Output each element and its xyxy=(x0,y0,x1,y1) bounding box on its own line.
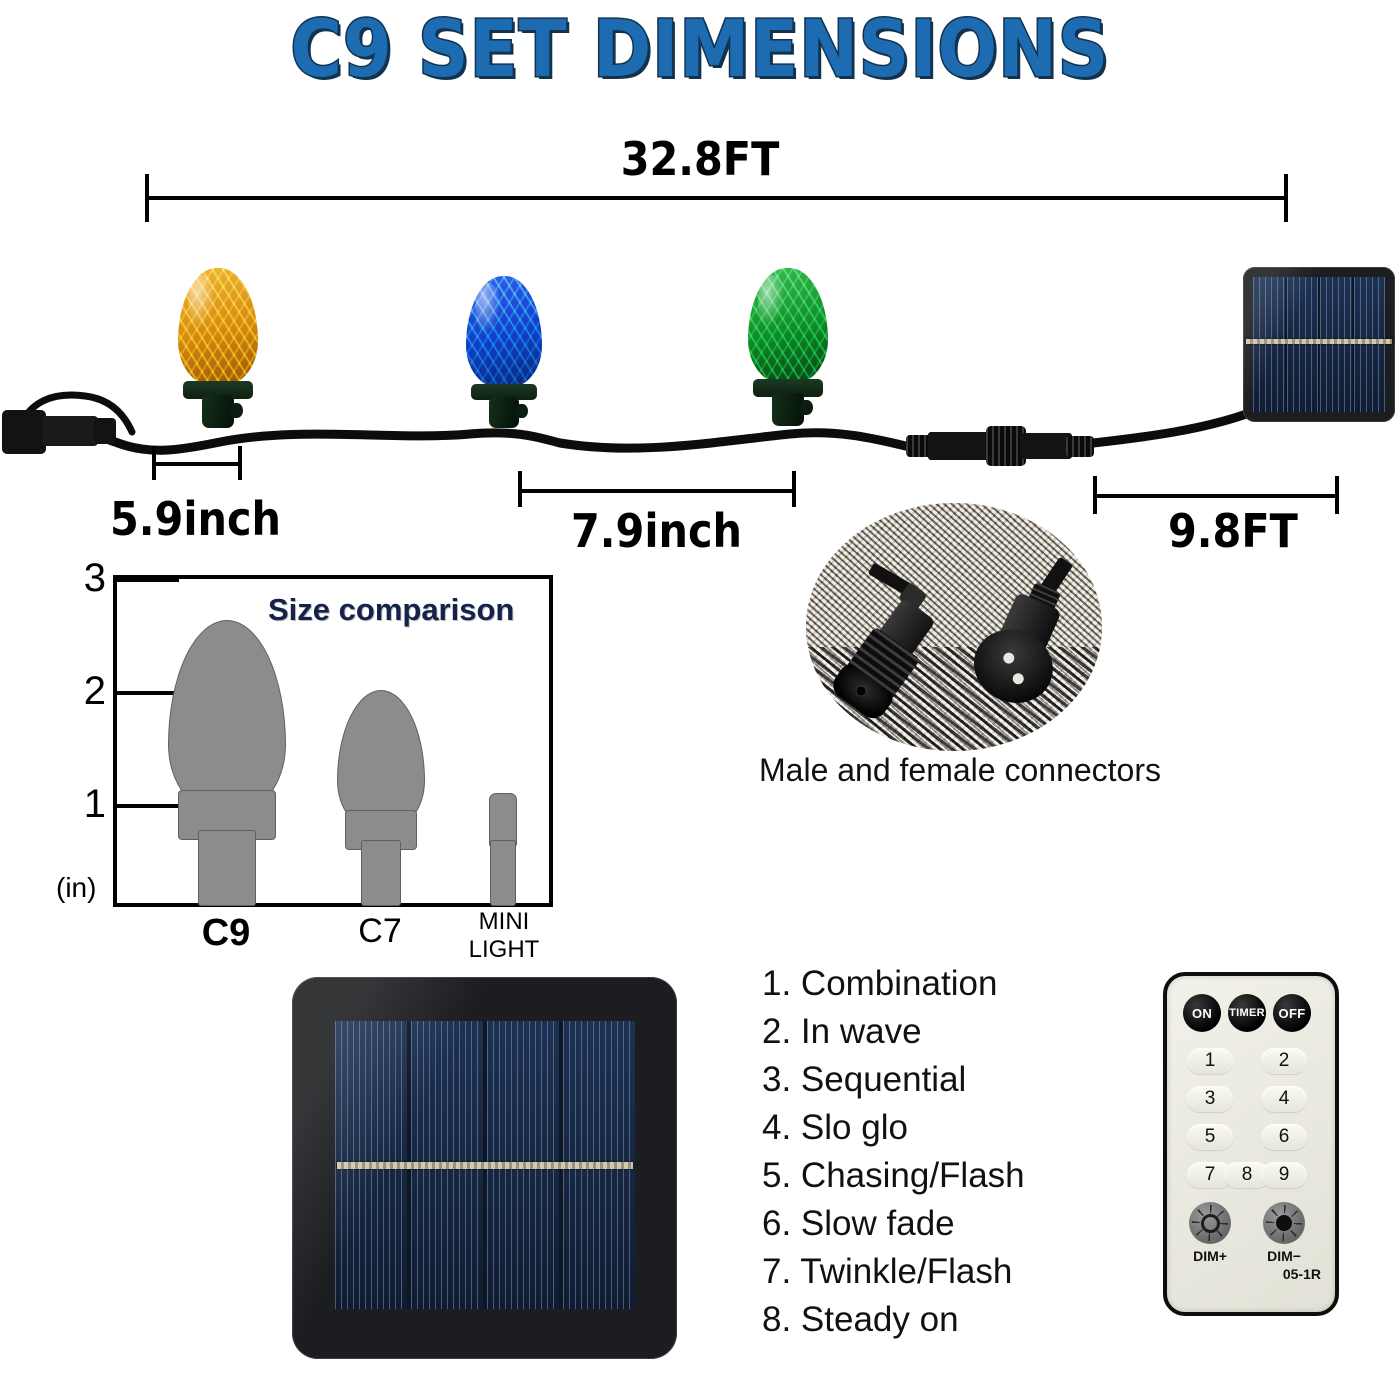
category-label-c7: C7 xyxy=(330,912,430,951)
mode-item-5: 5. Chasing/Flash xyxy=(762,1152,1092,1200)
dimension-line xyxy=(152,462,242,466)
connector-photo-caption: Male and female connectors xyxy=(730,752,1190,789)
green-bulb xyxy=(748,268,828,384)
amber-bulb xyxy=(178,268,258,386)
remote-off-button[interactable]: OFF xyxy=(1273,994,1311,1032)
y-tick-label-2: 2 xyxy=(62,669,106,714)
category-label-c9: C9 xyxy=(166,912,286,955)
plug-ribbed-grip xyxy=(2,410,46,454)
dial-tick-marks xyxy=(1192,1205,1228,1241)
coupler-strain-right xyxy=(1066,436,1094,457)
bulb-glass xyxy=(466,276,542,388)
solar-panel-large xyxy=(292,977,677,1359)
mini-base-shape xyxy=(490,840,516,906)
remote-button-2[interactable]: 2 xyxy=(1261,1048,1307,1074)
panel-sheen xyxy=(1243,267,1395,422)
chart-title: Size comparison xyxy=(268,592,514,628)
bulb-to-end-label: 5.9inch xyxy=(110,492,281,546)
bulb-socket xyxy=(489,397,519,428)
remote-timer-button[interactable]: TIMER xyxy=(1228,994,1266,1032)
bulb-spacing-label: 7.9inch xyxy=(571,504,742,558)
y-tick-1 xyxy=(117,804,179,808)
y-tick-label-1: 1 xyxy=(62,782,106,827)
bulb-glass xyxy=(178,268,258,386)
mini-glass-shape xyxy=(489,793,517,847)
y-tick-label-3: 3 xyxy=(62,556,106,601)
solar-panel-small xyxy=(1243,267,1395,422)
remote-button-9[interactable]: 9 xyxy=(1261,1162,1307,1188)
remote-model-number: 05-1R xyxy=(1283,1266,1321,1282)
dimension-tick-left xyxy=(518,471,522,507)
light-mode-list: 1. Combination 2. In wave 3. Sequential … xyxy=(762,960,1092,1344)
mode-item-1: 1. Combination xyxy=(762,960,1092,1008)
dimension-tick-left xyxy=(152,446,156,480)
panel-sheen xyxy=(292,977,677,1359)
y-axis-unit-label: (in) xyxy=(56,872,112,904)
lead-length-label: 9.8FT xyxy=(1168,504,1298,558)
remote-button-6[interactable]: 6 xyxy=(1261,1124,1307,1150)
dimension-tick-right xyxy=(238,446,242,480)
mode-item-7: 7. Twinkle/Flash xyxy=(762,1248,1092,1296)
connector-photo xyxy=(806,503,1102,751)
dimension-tick-right xyxy=(792,471,796,507)
dial-tick-marks xyxy=(1266,1205,1302,1241)
coupler-body-right xyxy=(1020,433,1072,459)
remote-button-3[interactable]: 3 xyxy=(1187,1086,1233,1112)
category-label-mini: MINI LIGHT xyxy=(452,908,556,964)
c7-base-shape xyxy=(361,840,401,906)
remote-on-button[interactable]: ON xyxy=(1183,994,1221,1032)
plug-strain-relief xyxy=(94,418,116,444)
power-plug-connector xyxy=(2,404,122,460)
blue-bulb xyxy=(466,276,542,388)
bulb-glass xyxy=(748,268,828,384)
remote-button-5[interactable]: 5 xyxy=(1187,1124,1233,1150)
coupler-body-left xyxy=(928,432,992,460)
remote-dim-up-label: DIM+ xyxy=(1180,1248,1240,1264)
remote-button-4[interactable]: 4 xyxy=(1261,1086,1307,1112)
remote-dim-down-dial[interactable] xyxy=(1263,1202,1305,1244)
remote-button-1[interactable]: 1 xyxy=(1187,1048,1233,1074)
mode-item-3: 3. Sequential xyxy=(762,1056,1092,1104)
remote-dim-down-label: DIM− xyxy=(1254,1248,1314,1264)
dimension-line xyxy=(1093,494,1339,498)
inline-coupler xyxy=(906,424,1112,468)
dimension-line xyxy=(518,489,796,493)
mode-item-2: 2. In wave xyxy=(762,1008,1092,1056)
mode-item-4: 4. Slo glo xyxy=(762,1104,1092,1152)
plug-barrel xyxy=(42,416,98,446)
mode-item-6: 6. Slow fade xyxy=(762,1200,1092,1248)
y-tick-3 xyxy=(117,578,179,582)
c9-base-shape xyxy=(198,830,256,906)
remote-control: ON TIMER OFF 1 2 3 4 5 6 7 8 9 DIM+ DIM−… xyxy=(1163,972,1339,1316)
remote-dim-up-dial[interactable] xyxy=(1189,1202,1231,1244)
dimension-tick-right xyxy=(1335,476,1339,514)
y-tick-2 xyxy=(117,691,179,695)
bulb-socket xyxy=(772,393,804,425)
mode-item-8: 8. Steady on xyxy=(762,1296,1092,1344)
bulb-socket xyxy=(202,395,234,428)
